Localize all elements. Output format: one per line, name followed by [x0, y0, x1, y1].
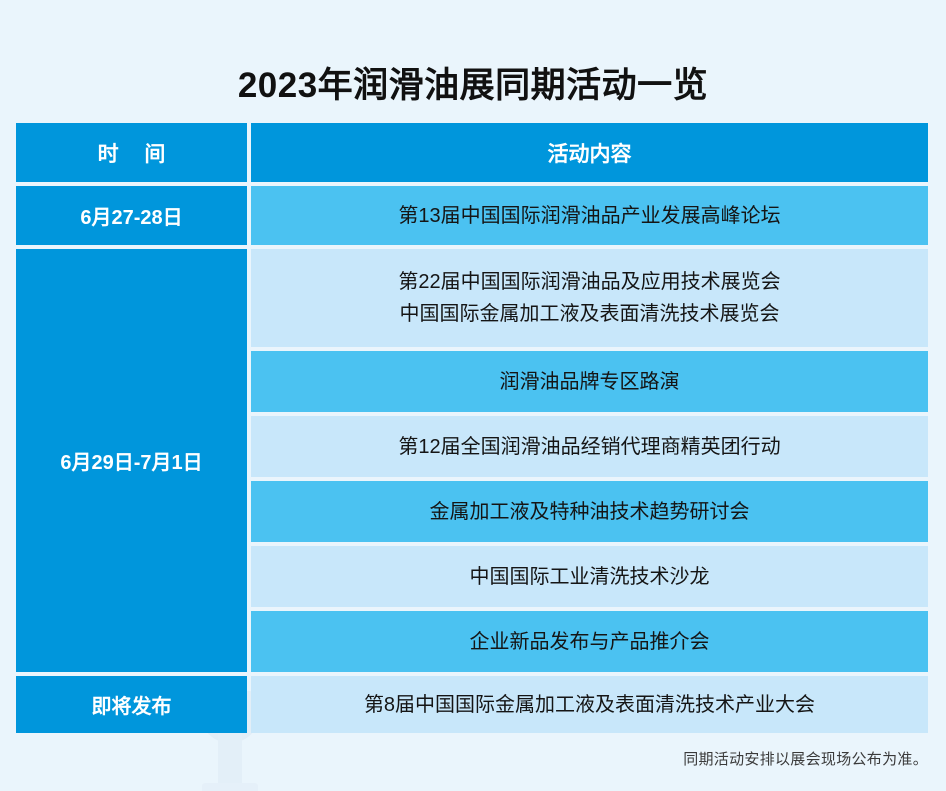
row-event-cell: 中国国际工业清洗技术沙龙: [251, 546, 928, 607]
row-event-cell: 第8届中国国际金属加工液及表面清洗技术产业大会: [251, 676, 928, 733]
row-time-cell: 6月29日-7月1日: [16, 249, 247, 672]
header-cell-content: 活动内容: [251, 123, 928, 182]
row-event-cell: 企业新品发布与产品推介会: [251, 611, 928, 672]
row-time-cell: 即将发布: [16, 676, 247, 733]
row-time-cell: 6月27-28日: [16, 186, 247, 245]
event-line: 第22届中国国际润滑油品及应用技术展览会: [398, 266, 780, 298]
row-time-label: 6月27-28日: [80, 201, 182, 230]
table-row: 6月29日-7月1日 第22届中国国际润滑油品及应用技术展览会 中国国际金属加工…: [16, 249, 928, 672]
footnote-text: 同期活动安排以展会现场公布为准。: [683, 748, 928, 769]
row-event-group: 第22届中国国际润滑油品及应用技术展览会 中国国际金属加工液及表面清洗技术展览会…: [251, 249, 928, 672]
header-cell-time: 时 间: [16, 123, 247, 182]
row-event-cell: 第12届全国润滑油品经销代理商精英团行动: [251, 416, 928, 477]
schedule-table: 时 间 活动内容 6月27-28日 第13届中国国际润滑油品产业发展高峰论坛 6…: [16, 123, 928, 733]
table-row: 即将发布 第8届中国国际金属加工液及表面清洗技术产业大会: [16, 676, 928, 733]
event-line: 第13届中国国际润滑油品产业发展高峰论坛: [398, 200, 780, 232]
event-line: 中国国际金属加工液及表面清洗技术展览会: [400, 298, 780, 330]
event-line: 润滑油品牌专区路演: [500, 366, 680, 398]
row-event-cell: 金属加工液及特种油技术趋势研讨会: [251, 481, 928, 542]
table-row: 6月27-28日 第13届中国国际润滑油品产业发展高峰论坛: [16, 186, 928, 245]
event-line: 第8届中国国际金属加工液及表面清洗技术产业大会: [364, 689, 815, 721]
row-time-label: 即将发布: [92, 690, 172, 719]
event-line: 中国国际工业清洗技术沙龙: [470, 561, 710, 593]
event-line: 金属加工液及特种油技术趋势研讨会: [430, 496, 750, 528]
row-event-cell: 第22届中国国际润滑油品及应用技术展览会 中国国际金属加工液及表面清洗技术展览会: [251, 249, 928, 347]
header-label-content: 活动内容: [548, 138, 632, 168]
event-line: 第12届全国润滑油品经销代理商精英团行动: [398, 431, 780, 463]
table-header-row: 时 间 活动内容: [16, 123, 928, 182]
poster-page: 2023年润滑油展同期活动一览 时 间 活动内容 6月27-28日 第13届中国…: [0, 0, 946, 791]
row-event-cell: 第13届中国国际润滑油品产业发展高峰论坛: [251, 186, 928, 245]
page-title: 2023年润滑油展同期活动一览: [0, 64, 946, 108]
header-label-time: 时 间: [88, 138, 176, 168]
event-line: 企业新品发布与产品推介会: [470, 626, 710, 658]
row-event-cell: 润滑油品牌专区路演: [251, 351, 928, 412]
row-time-label: 6月29日-7月1日: [60, 446, 202, 475]
